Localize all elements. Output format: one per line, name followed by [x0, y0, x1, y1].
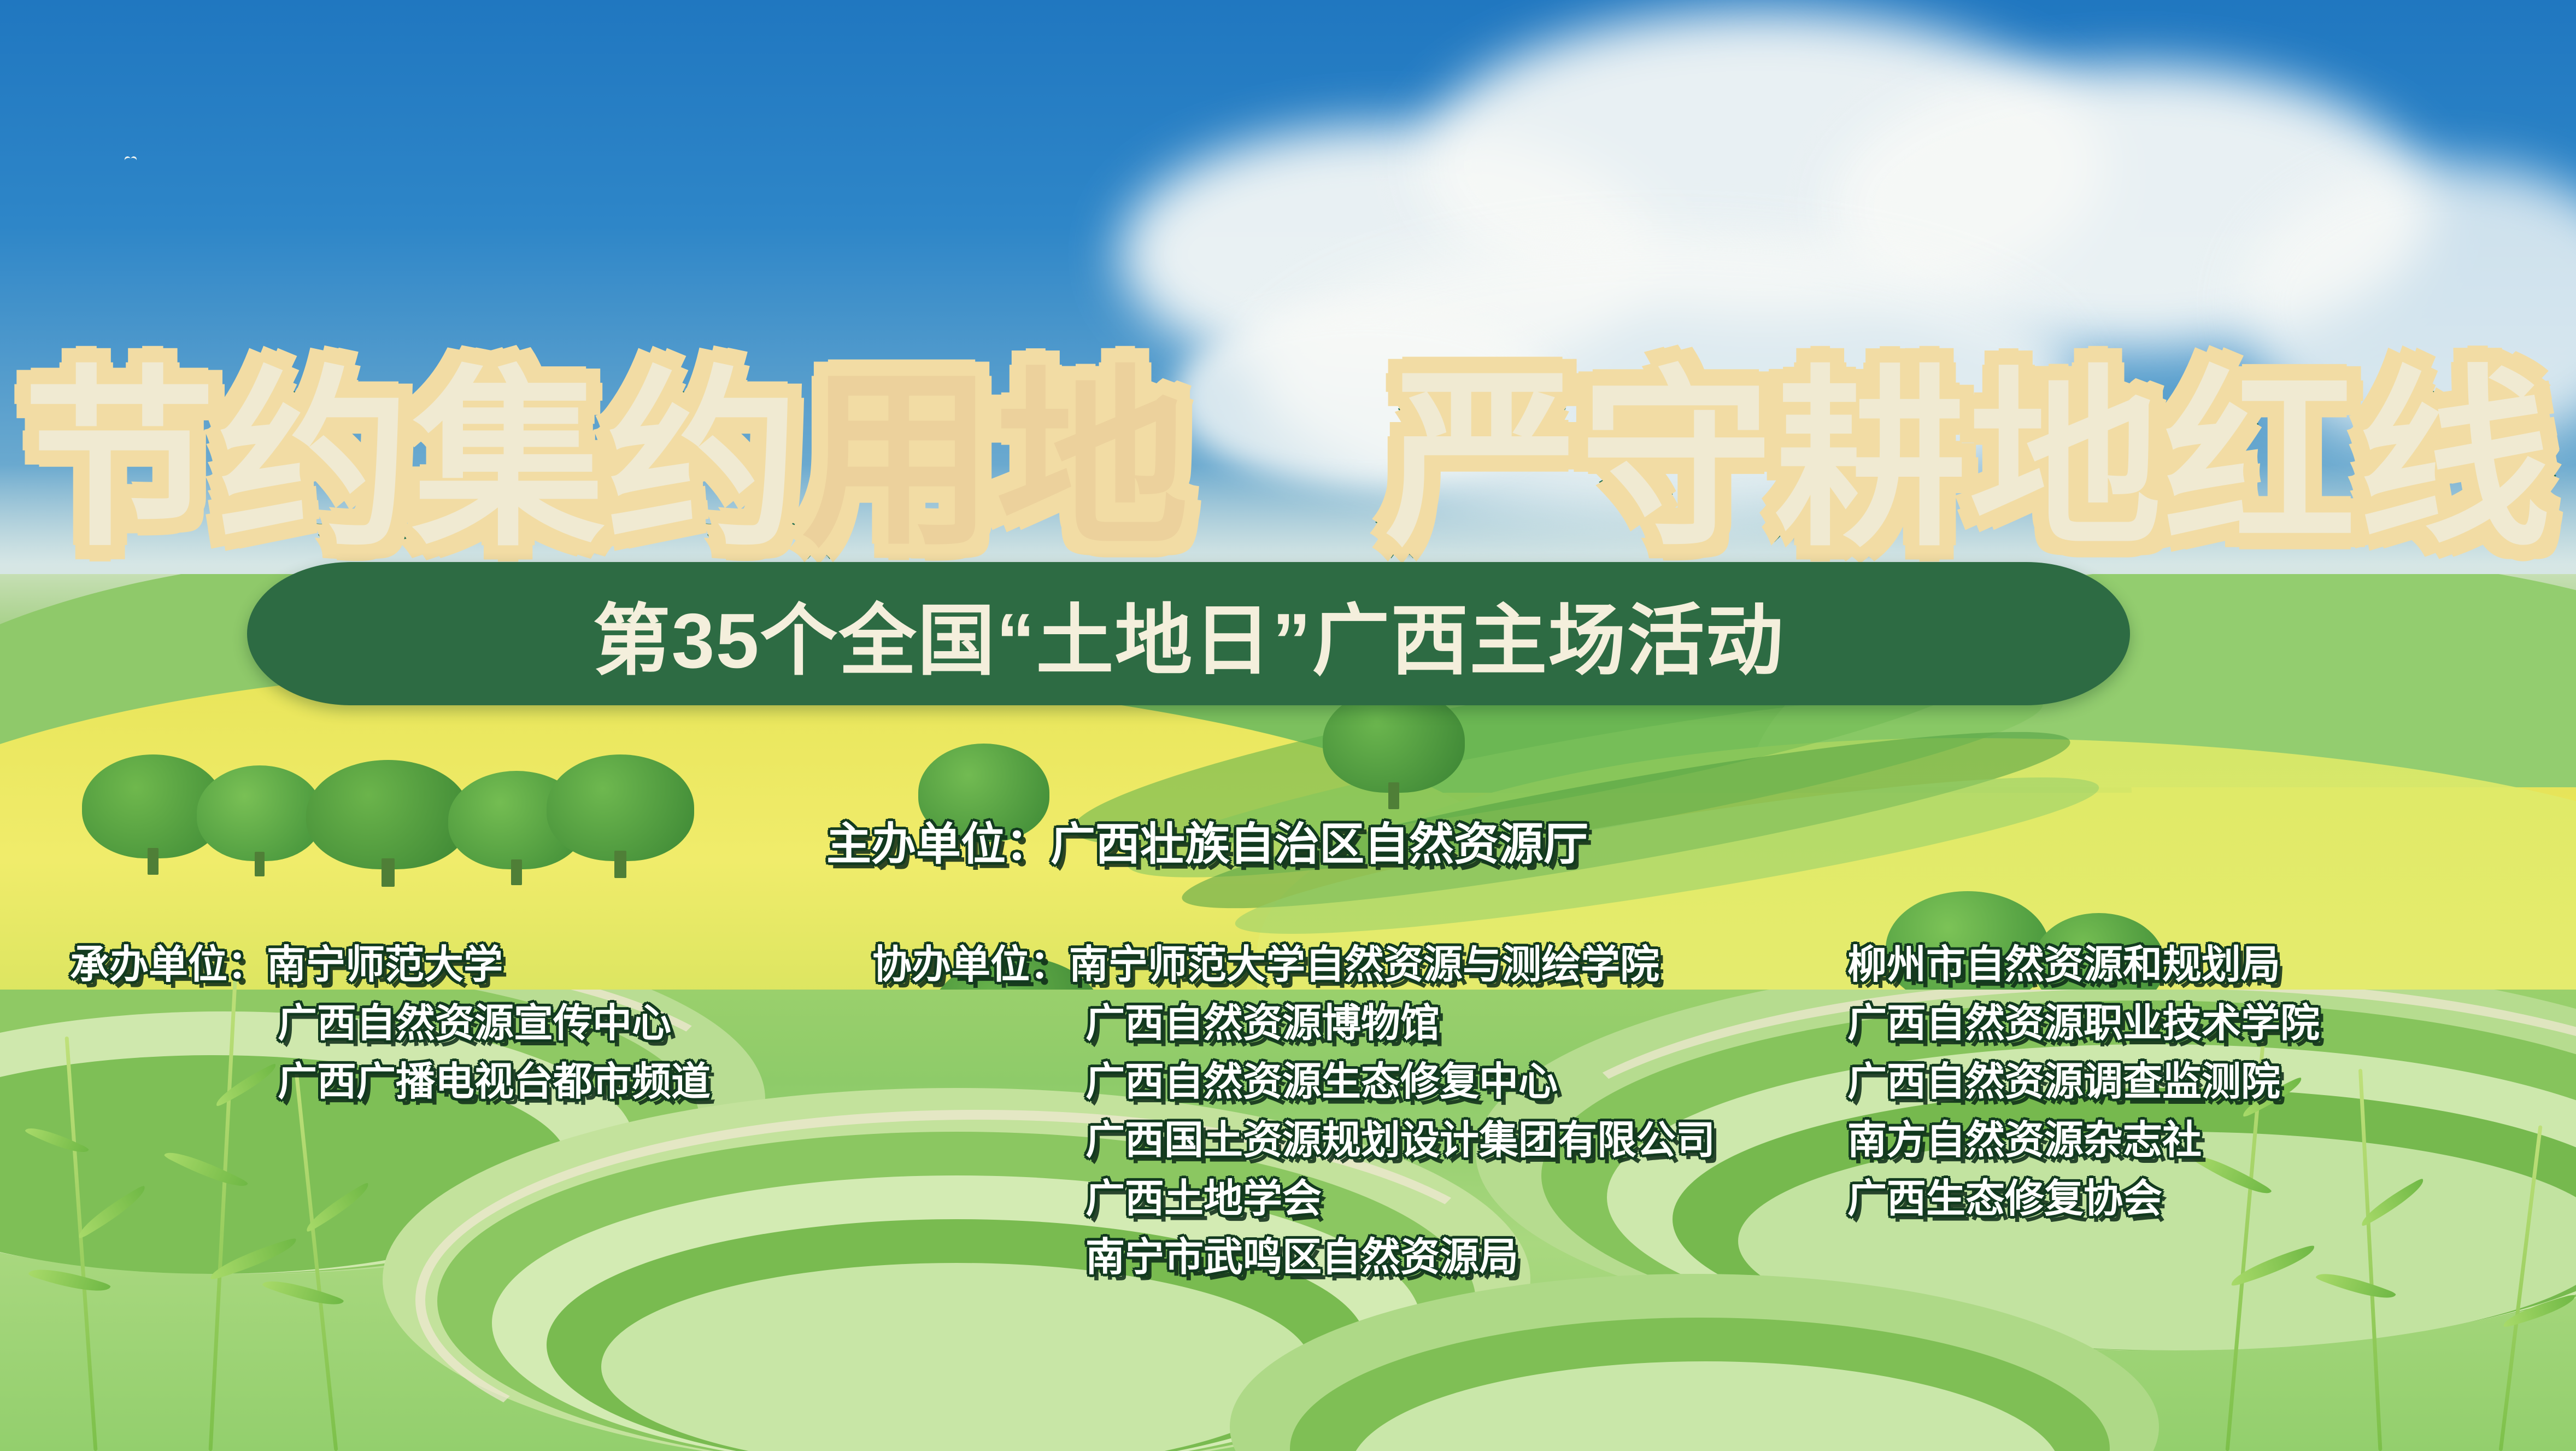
- co-organizers-label: 协办单位：: [872, 943, 1069, 987]
- organizers-label: 承办单位：: [70, 943, 267, 987]
- co-organizers-column: 协办单位：南宁师范大学自然资源与测绘学院 广西自然资源博物馆 广西自然资源生态修…: [872, 936, 1715, 1287]
- cloud-icon: [1175, 306, 1558, 487]
- co-organizers-line: 广西自然资源生态修复中心: [872, 1053, 1715, 1111]
- tree-icon: [197, 765, 322, 861]
- co-organizers-line: 广西自然资源博物馆: [872, 994, 1715, 1053]
- co-organizers-right-line: 广西生态修复协会: [1847, 1170, 2320, 1228]
- subtitle-banner-text: 第35个全国“土地日”广西主场活动: [593, 577, 1785, 690]
- co-organizers-line: 广西国土资源规划设计集团有限公司: [872, 1111, 1715, 1170]
- co-organizers-line: 广西土地学会: [872, 1170, 1715, 1228]
- organizers-line: 广西广播电视台都市频道: [70, 1053, 711, 1111]
- co-organizers-item: 南宁师范大学自然资源与测绘学院: [1069, 943, 1659, 987]
- co-organizers-line: 南宁市武鸣区自然资源局: [872, 1228, 1715, 1287]
- organizers-line: 广西自然资源宣传中心: [70, 994, 711, 1053]
- subtitle-banner: 第35个全国“土地日”广西主场活动: [247, 562, 2130, 705]
- co-organizers-right-line: 南方自然资源杂志社: [1847, 1111, 2320, 1170]
- organizers-line: 承办单位：南宁师范大学: [70, 936, 711, 994]
- tree-icon: [547, 754, 694, 861]
- organizers-column: 承办单位：南宁师范大学 广西自然资源宣传中心 广西广播电视台都市频道: [70, 936, 711, 1111]
- co-organizers-line: 协办单位：南宁师范大学自然资源与测绘学院: [872, 936, 1715, 994]
- co-organizers-right-line: 广西自然资源职业技术学院: [1847, 994, 2320, 1053]
- tree-icon: [306, 760, 470, 869]
- co-organizers-right-line: 广西自然资源调查监测院: [1847, 1053, 2320, 1111]
- organizers-item: 南宁师范大学: [267, 943, 503, 987]
- co-organizers-right-column: 柳州市自然资源和规划局 广西自然资源职业技术学院 广西自然资源调查监测院 南方自…: [1847, 936, 2320, 1228]
- co-organizers-right-line: 柳州市自然资源和规划局: [1847, 936, 2320, 994]
- host-organization-line: 主办单位：广西壮族自治区自然资源厅: [826, 808, 1588, 873]
- poster-canvas: 节约集约用地 严守耕地红线 第35个全国“土地日”广西主场活动 主办单位：广西壮…: [0, 0, 2576, 1451]
- bird-icon: [125, 156, 137, 162]
- sky-background: [0, 0, 2576, 645]
